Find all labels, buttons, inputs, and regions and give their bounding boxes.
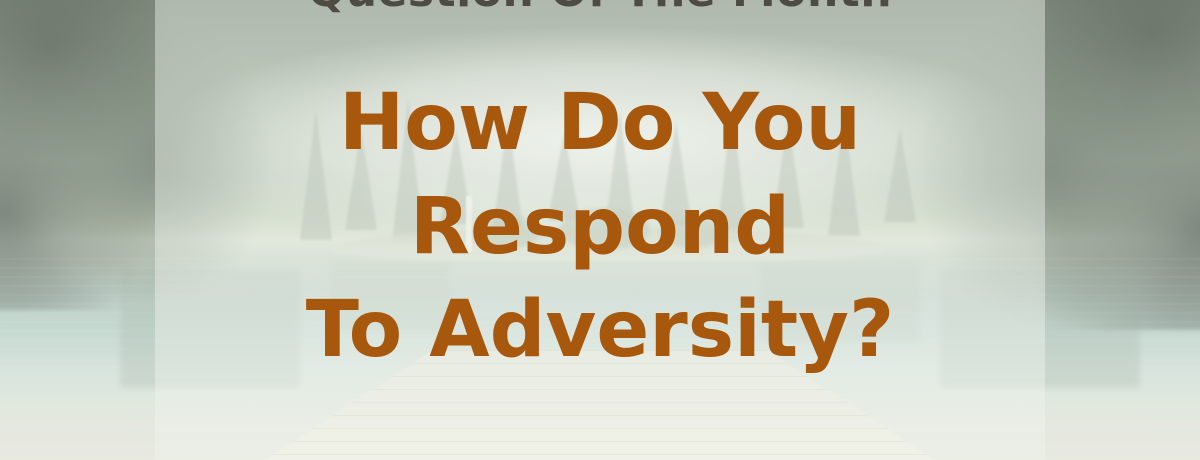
headline-line-2: Respond	[306, 176, 895, 280]
eyebrow-label: Question Of The Month	[308, 0, 892, 14]
headline-line-3: To Adversity?	[306, 279, 895, 383]
banner-text: Question Of The Month How Do You Respond…	[0, 0, 1200, 460]
headline: How Do You Respond To Adversity?	[306, 72, 895, 383]
question-of-the-month-banner: Question Of The Month How Do You Respond…	[0, 0, 1200, 460]
headline-line-1: How Do You	[306, 72, 895, 176]
